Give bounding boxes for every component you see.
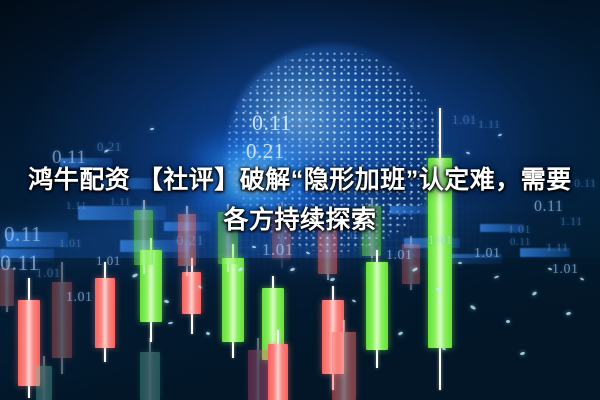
particle-fleck (436, 287, 442, 291)
particle-fleck (548, 267, 552, 270)
particle-fleck (164, 299, 170, 303)
particle-fleck (494, 275, 499, 279)
particle-fleck (206, 331, 211, 335)
particle-fleck (104, 149, 109, 153)
banner-title-block: 鸿牛配资 【社评】破解“隐形加班”认定难，需要各方持续探索 (0, 160, 600, 240)
particle-fleck (498, 133, 502, 136)
banner-image: 0.110.110.111.011.011.111.011.011.011.11… (0, 0, 600, 400)
particle-fleck (412, 267, 419, 273)
particle-fleck (566, 311, 572, 315)
particle-fleck (442, 347, 446, 350)
particle-fleck (506, 320, 511, 324)
particle-fleck (290, 267, 296, 272)
particle-fleck (330, 277, 336, 281)
particle-fleck (252, 246, 256, 249)
particle-fleck (398, 331, 404, 336)
particle-fleck (238, 267, 244, 272)
particle-fleck (580, 277, 584, 281)
particle-fleck (470, 305, 477, 311)
particle-fleck (150, 128, 154, 131)
particle-fleck (458, 262, 462, 265)
particle-fleck (520, 351, 526, 355)
particle-fleck (352, 299, 356, 303)
particle-fleck (466, 151, 470, 154)
particle-fleck (306, 251, 310, 255)
particle-fleck (168, 322, 173, 325)
particle-fleck (132, 273, 139, 278)
particle-fleck (532, 291, 538, 296)
particle-fleck (198, 285, 202, 289)
page-title: 鸿牛配资 【社评】破解“隐形加班”认定难，需要各方持续探索 (18, 160, 582, 240)
